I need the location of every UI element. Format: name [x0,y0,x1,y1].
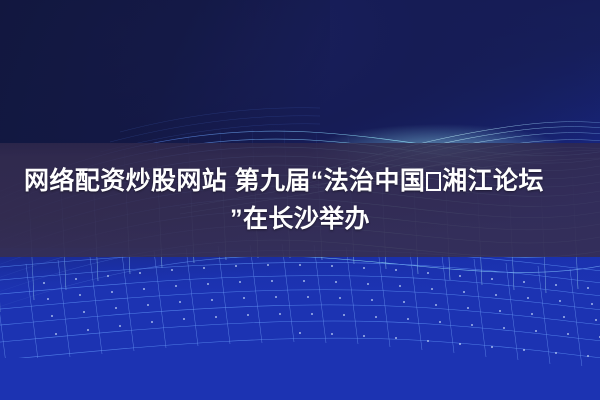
banner-image: 网络配资炒股网站 第九届“法治中国湘江论坛 ”在长沙举办 [0,0,600,400]
headline-text-block: 网络配资炒股网站 第九届“法治中国湘江论坛 ”在长沙举办 [0,143,600,257]
missing-glyph-box [426,172,441,191]
headline-line-1-tail: 湘江论坛 [442,167,544,195]
headline-line-2: ”在长沙举办 [230,200,370,238]
headline-line-1-head: 网络配资炒股网站 第九届“法治中国 [24,167,425,195]
headline-line-1: 网络配资炒股网站 第九届“法治中国湘江论坛 [18,162,544,200]
